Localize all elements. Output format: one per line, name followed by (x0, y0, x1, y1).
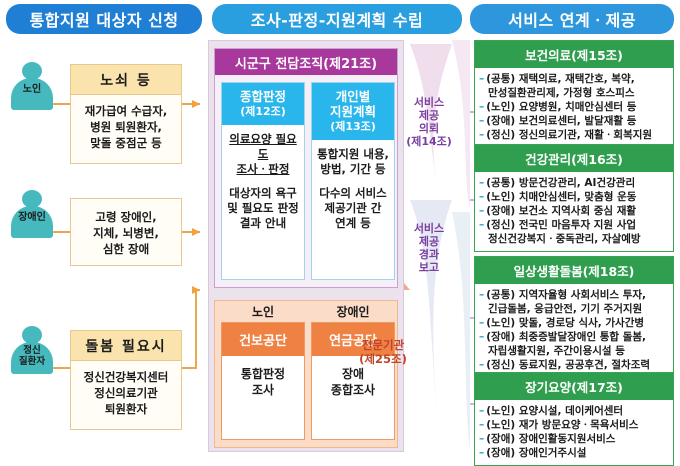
service-item: 만성질환관리제, 가정형 호스피스 (479, 86, 670, 100)
service-item: 자립생활지원, 주간이용시설 등 (479, 344, 670, 358)
agency-task: 통합판정조사 (222, 356, 304, 408)
service-item-text: (장애) 최중증발달장애인 통합 돌봄, (486, 330, 646, 344)
service-item: –(노인) 재가 방문요양ㆍ목욕서비스 (479, 418, 670, 432)
bullet-dash-icon: – (479, 330, 484, 344)
subunit-body: 통합지원 내용,방법, 기간 등 다수의 서비스제공기관 간연계 등 (312, 140, 394, 238)
bullet-dash-icon: – (479, 404, 484, 418)
subunit-article: (제13조) (314, 119, 392, 134)
bullet-dash-icon: – (479, 218, 484, 232)
flow-label-service-request: 서비스제공의뢰(제14조) (398, 96, 460, 148)
agency-nhis: 건보공단 통합판정조사 (221, 322, 305, 440)
service-card-long-term-care: 장기요양(제17조) –(노인) 요양시설, 데이케어센터–(노인) 재가 방문… (474, 372, 674, 466)
flow-label-expert-agency: 전문기관(제25조) (352, 338, 414, 366)
service-title: 일상생활돌봄(제18조) (475, 257, 673, 284)
service-item: –(정신) 전국민 마음투자 지원 사업 (479, 218, 670, 232)
service-item-text: 자립생활지원, 주간이용시설 등 (488, 344, 625, 358)
service-card-daily-living-care: 일상생활돌봄(제18조) –(공통) 지역자율형 사회서비스 투자,긴급돌봄, … (474, 256, 674, 378)
service-title: 보건의료(제15조) (475, 41, 673, 68)
subunit-name: 개인별지원계획 (330, 89, 376, 119)
service-item: –(장애) 장애인활동지원서비스 (479, 432, 670, 446)
column-header-assessment: 조사-판정-지원계획 수립 (212, 4, 462, 34)
service-item-text: 만성질환관리제, 가정형 호스피스 (488, 86, 635, 100)
need-box-mental-illness: 돌봄 필요시 정신건강복지센터정신의료기관퇴원환자 (70, 330, 182, 430)
service-item: –(정신) 동료지원, 공공후견, 절차조력 (479, 358, 670, 372)
subunit-head: 개인별지원계획 (제13조) (312, 83, 394, 140)
subunit-line: 다수의 서비스제공기관 간연계 등 (314, 186, 392, 231)
persona-label: 노인 (9, 84, 55, 95)
bullet-dash-icon: – (479, 316, 484, 330)
service-item: –(노인) 요양병원, 치매안심센터 등 (479, 100, 670, 114)
service-item-text: (공통) 지역자율형 사회서비스 투자, (486, 288, 646, 302)
subunit-line: 의료요양 필요도조사ㆍ판정 (224, 132, 302, 177)
service-item: –(장애) 보건의료센터, 발달재활 등 (479, 114, 670, 128)
need-box-disabled: 고령 장애인,지체, 뇌병변,심한 장애 (70, 198, 182, 266)
flow-label-progress-report: 서비스제공경과보고 (398, 222, 460, 274)
service-list: –(공통) 지역자율형 사회서비스 투자,긴급돌봄, 응급안전, 기기 주거지원… (475, 284, 673, 377)
service-item: –(노인) 맞돌, 경로당 식사, 가사간병 (479, 316, 670, 330)
service-item-text: (노인) 요양시설, 데이케어센터 (486, 404, 623, 418)
column-header-services: 서비스 연계ㆍ제공 (470, 4, 674, 34)
subunit-name: 종합판정 (240, 89, 286, 104)
avatar-elderly: 노인 (9, 62, 55, 110)
subunit-head: 종합판정 (제12조) (222, 83, 304, 125)
column-header-application: 통합지원 대상자 신청 (6, 4, 202, 34)
persona-mental-illness: 정신질환자 (4, 326, 60, 374)
service-card-healthcare: 보건의료(제15조) –(공통) 재택의료, 재택간호, 복약,만성질환관리제,… (474, 40, 674, 148)
subunit-comprehensive-assessment: 종합판정 (제12조) 의료요양 필요도조사ㆍ판정 대상자의 욕구및 필요도 판… (221, 82, 305, 280)
service-item-text: (정신) 동료지원, 공공후견, 절차조력 (486, 358, 650, 372)
bullet-dash-icon: – (479, 288, 484, 302)
persona-elderly: 노인 (4, 62, 60, 110)
bullet-dash-icon: – (479, 418, 484, 432)
agency-tag-disabled: 장애인 (311, 303, 395, 320)
service-card-health-management: 건강관리(제16조) –(공통) 방문건강관리, AI건강관리–(노인) 치매안… (474, 144, 674, 252)
service-item-text: (노인) 맞돌, 경로당 식사, 가사간병 (486, 316, 644, 330)
diagram-canvas: 통합지원 대상자 신청 조사-판정-지원계획 수립 서비스 연계ㆍ제공 노인 장… (0, 0, 680, 458)
service-title: 장기요양(제17조) (475, 373, 673, 400)
service-list: –(공통) 재택의료, 재택간호, 복약,만성질환관리제, 가정형 호스피스–(… (475, 68, 673, 147)
service-item-text: (장애) 보건소 지역사회 중심 재활 (486, 204, 636, 218)
bullet-dash-icon: – (479, 128, 484, 142)
service-item-text: (공통) 재택의료, 재택간호, 복약, (486, 72, 634, 86)
service-item: 정신건강복지ㆍ중독관리, 자살예방 (479, 232, 670, 246)
service-list: –(노인) 요양시설, 데이케어센터–(노인) 재가 방문요양ㆍ목욕서비스–(장… (475, 400, 673, 465)
service-item-text: (장애) 장애인활동지원서비스 (486, 432, 615, 446)
service-item: –(장애) 최중증발달장애인 통합 돌봄, (479, 330, 670, 344)
service-item: –(공통) 방문건강관리, AI건강관리 (479, 176, 670, 190)
avatar-mental-illness: 정신질환자 (9, 326, 55, 374)
service-item: –(노인) 치매안심센터, 맞춤형 운동 (479, 190, 670, 204)
need-title: 노쇠 등 (71, 65, 181, 95)
persona-disabled: 장애인 (4, 190, 60, 238)
bullet-dash-icon: – (479, 114, 484, 128)
bullet-dash-icon: – (479, 204, 484, 218)
need-body: 재가급여 수급자,병원 퇴원환자,맞돌 중점군 등 (71, 95, 181, 159)
agency-tag-elderly: 노인 (221, 303, 305, 320)
service-item-text: (노인) 치매안심센터, 맞춤형 운동 (486, 190, 636, 204)
service-item-text: (노인) 재가 방문요양ㆍ목욕서비스 (486, 418, 638, 432)
persona-label: 정신질환자 (9, 346, 55, 367)
service-item: –(장애) 보건소 지역사회 중심 재활 (479, 204, 670, 218)
need-body: 정신건강복지센터정신의료기관퇴원환자 (71, 361, 181, 425)
need-body: 고령 장애인,지체, 뇌병변,심한 장애 (71, 199, 181, 267)
service-item-text: (노인) 요양병원, 치매안심센터 등 (486, 100, 636, 114)
bullet-dash-icon: – (479, 190, 484, 204)
service-item-text: (공통) 방문건강관리, AI건강관리 (486, 176, 635, 190)
service-list: –(공통) 방문건강관리, AI건강관리–(노인) 치매안심센터, 맞춤형 운동… (475, 172, 673, 251)
service-item-text: 긴급돌봄, 응급안전, 기기 주거지원 (488, 302, 642, 316)
persona-label: 장애인 (9, 212, 55, 223)
avatar-disabled: 장애인 (9, 190, 55, 238)
bullet-dash-icon: – (479, 72, 484, 86)
service-item: 긴급돌봄, 응급안전, 기기 주거지원 (479, 302, 670, 316)
subunit-line: 통합지원 내용,방법, 기간 등 (314, 147, 392, 177)
bullet-dash-icon: – (479, 100, 484, 114)
service-item: –(공통) 재택의료, 재택간호, 복약, (479, 72, 670, 86)
service-item-text: (장애) 보건의료센터, 발달재활 등 (486, 114, 636, 128)
service-item-text: (정신) 전국민 마음투자 지원 사업 (486, 218, 636, 232)
service-item: –(노인) 요양시설, 데이케어센터 (479, 404, 670, 418)
need-title: 돌봄 필요시 (71, 331, 181, 361)
need-box-elderly: 노쇠 등 재가급여 수급자,병원 퇴원환자,맞돌 중점군 등 (70, 64, 182, 164)
subunit-individual-support-plan: 개인별지원계획 (제13조) 통합지원 내용,방법, 기간 등 다수의 서비스제… (311, 82, 395, 280)
bullet-dash-icon: – (479, 432, 484, 446)
bullet-dash-icon: – (479, 176, 484, 190)
org-title: 시군구 전담조직(제21조) (215, 49, 397, 75)
service-item: –(공통) 지역자율형 사회서비스 투자, (479, 288, 670, 302)
bullet-dash-icon: – (479, 358, 484, 372)
subunit-line: 대상자의 욕구및 필요도 판정결과 안내 (224, 186, 302, 231)
agency-name: 건보공단 (222, 323, 304, 356)
service-title: 건강관리(제16조) (475, 145, 673, 172)
service-item-text: (정신) 정신의료기관, 재활ㆍ회복지원 (486, 128, 652, 142)
subunit-body: 의료요양 필요도조사ㆍ판정 대상자의 욕구및 필요도 판정결과 안내 (222, 125, 304, 238)
service-item-text: 정신건강복지ㆍ중독관리, 자살예방 (488, 232, 641, 246)
service-item: –(정신) 정신의료기관, 재활ㆍ회복지원 (479, 128, 670, 142)
subunit-article: (제12조) (224, 104, 302, 119)
